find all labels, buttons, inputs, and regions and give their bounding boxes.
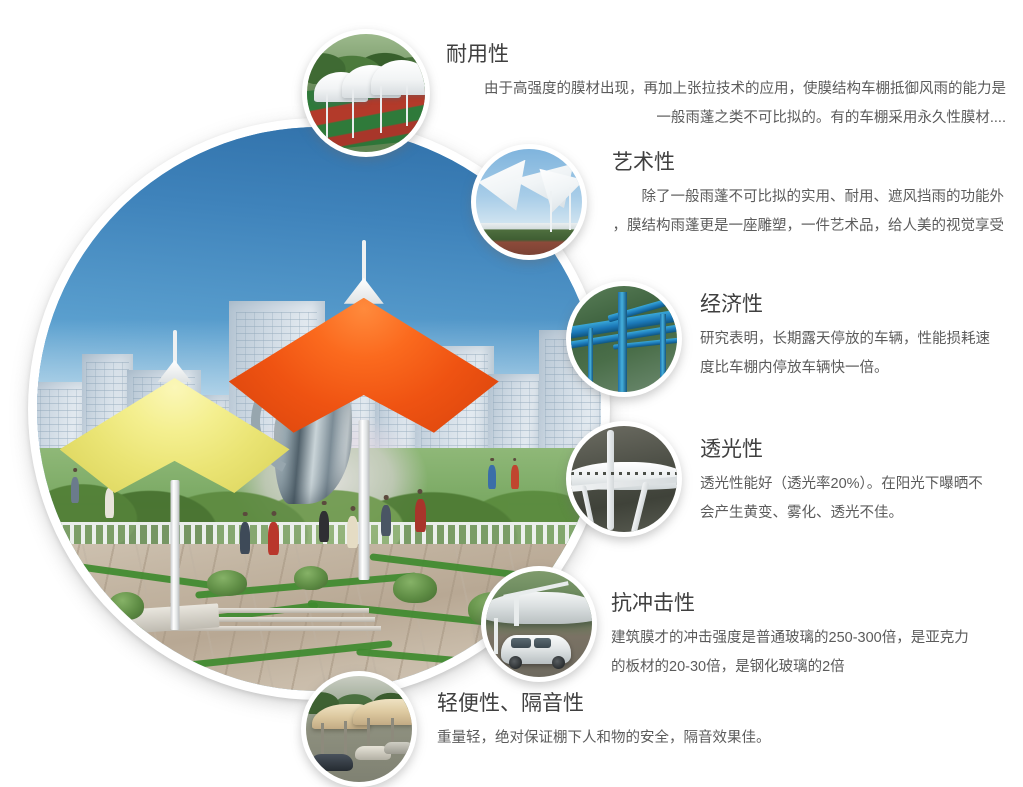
feature-line: 由于高强度的膜材出现，再加上张拉技术的应用，使膜结构车棚抵御风雨的能力是 [446, 75, 1006, 103]
feature-title-lightweight-soundproof: 轻便性、隔音性 [437, 691, 837, 717]
thumb-artistry-image [476, 149, 582, 255]
feature-line: 度比车棚内停放车辆快一倍。 [700, 354, 1010, 382]
feature-line: 除了一般雨蓬不可比拟的实用、耐用、遮风挡雨的功能外 [612, 183, 1004, 211]
feature-body-impact-resistance: 建筑膜才的冲击强度是普通玻璃的250-300倍，是亚克力 的板材的20-30倍，… [611, 624, 1011, 681]
feature-line: 一般雨蓬之类不可比拟的。有的车棚采用永久性膜材.... [446, 104, 1006, 132]
thumb-economy-image [571, 286, 677, 392]
feature-line: 的板材的20-30倍，是钢化玻璃的2倍 [611, 653, 1011, 681]
feature-title-artistry: 艺术性 [612, 150, 1004, 176]
feature-body-translucency: 透光性能好（透光率20%）。在阳光下曝晒不 会产生黄变、雾化、透光不佳。 [700, 470, 1010, 527]
feature-card-translucency: 透光性 透光性能好（透光率20%）。在阳光下曝晒不 会产生黄变、雾化、透光不佳。 [700, 437, 1010, 527]
feature-body-artistry: 除了一般雨蓬不可比拟的实用、耐用、遮风挡雨的功能外 ，膜结构雨蓬更是一座雕塑，一… [612, 183, 1004, 240]
thumb-impact-resistance-image [486, 571, 592, 677]
feature-line: 研究表明，长期露天停放的车辆，性能损耗速 [700, 325, 1010, 353]
feature-card-durability: 耐用性 由于高强度的膜材出现，再加上张拉技术的应用，使膜结构车棚抵御风雨的能力是… [446, 42, 1006, 132]
feature-title-impact-resistance: 抗冲击性 [611, 591, 1011, 617]
feature-line: 透光性能好（透光率20%）。在阳光下曝晒不 [700, 470, 1010, 498]
thumb-translucency-image [571, 426, 677, 532]
feature-title-durability: 耐用性 [446, 42, 1006, 68]
feature-card-impact-resistance: 抗冲击性 建筑膜才的冲击强度是普通玻璃的250-300倍，是亚克力 的板材的20… [611, 591, 1011, 681]
poster-stage: 耐用性 由于高强度的膜材出现，再加上张拉技术的应用，使膜结构车棚抵御风雨的能力是… [0, 0, 1023, 782]
feature-card-lightweight-soundproof: 轻便性、隔音性 重量轻，绝对保证棚下人和物的安全，隔音效果佳。 [437, 691, 837, 753]
feature-line: 建筑膜才的冲击强度是普通玻璃的250-300倍，是亚克力 [611, 624, 1011, 652]
feature-body-lightweight-soundproof: 重量轻，绝对保证棚下人和物的安全，隔音效果佳。 [437, 724, 837, 752]
feature-title-economy: 经济性 [700, 292, 1010, 318]
thumb-economy[interactable] [566, 281, 682, 397]
feature-line: ，膜结构雨蓬更是一座雕塑，一件艺术品，给人美的视觉享受 [612, 212, 1004, 240]
thumb-durability-image [307, 34, 425, 152]
feature-body-durability: 由于高强度的膜材出现，再加上张拉技术的应用，使膜结构车棚抵御风雨的能力是 一般雨… [446, 75, 1006, 132]
feature-body-economy: 研究表明，长期露天停放的车辆，性能损耗速 度比车棚内停放车辆快一倍。 [700, 325, 1010, 382]
thumb-lightweight-soundproof[interactable] [301, 671, 417, 787]
thumb-artistry[interactable] [471, 144, 587, 260]
thumb-impact-resistance[interactable] [481, 566, 597, 682]
feature-card-economy: 经济性 研究表明，长期露天停放的车辆，性能损耗速 度比车棚内停放车辆快一倍。 [700, 292, 1010, 382]
thumb-durability[interactable] [302, 29, 430, 157]
feature-line: 重量轻，绝对保证棚下人和物的安全，隔音效果佳。 [437, 724, 837, 752]
thumb-lightweight-image [306, 676, 412, 782]
thumb-translucency[interactable] [566, 421, 682, 537]
pedestrian [511, 465, 519, 489]
orange-membrane-umbrella [229, 240, 499, 570]
orange-canopy [229, 298, 499, 433]
feature-title-translucency: 透光性 [700, 437, 1010, 463]
feature-card-artistry: 艺术性 除了一般雨蓬不可比拟的实用、耐用、遮风挡雨的功能外 ，膜结构雨蓬更是一座… [612, 150, 1004, 240]
feature-line: 会产生黄变、雾化、透光不佳。 [700, 499, 1010, 527]
